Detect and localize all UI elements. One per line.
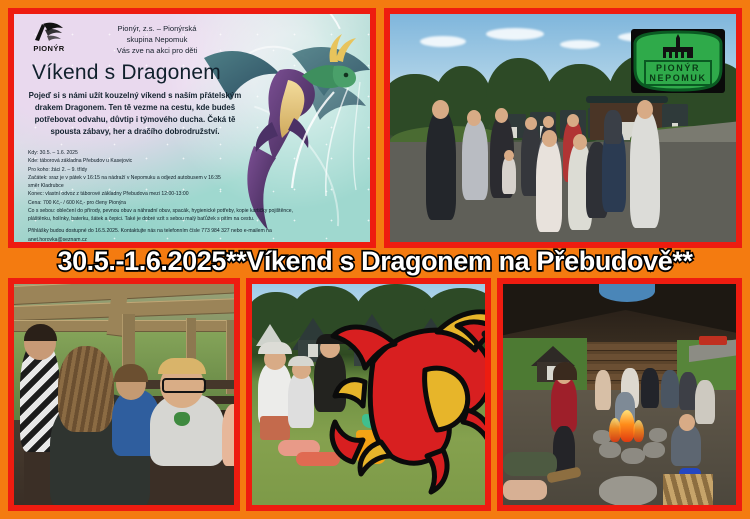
- pionyr-nepomuk-sign: PIONÝR NEPOMUK: [630, 28, 726, 94]
- detail-line: Cena: 700 Kč,- / 600 Kč,- pro členy Pion…: [28, 199, 358, 207]
- shelter-photo: [14, 284, 234, 505]
- person-seated: [595, 370, 611, 410]
- person-head: [637, 100, 653, 119]
- glasses-icon: [162, 378, 206, 393]
- lodge-roof: [586, 96, 668, 103]
- cloud: [486, 28, 544, 40]
- group-photo: PIONÝR NEPOMUK: [390, 14, 736, 242]
- sign-line-1: PIONÝR: [656, 62, 700, 73]
- shorts: [260, 416, 290, 440]
- wall-plank: [587, 344, 677, 351]
- event-poster: PIONÝR Pionýr, z.s. – Pionýrská skupina …: [14, 14, 370, 242]
- person-head: [573, 134, 587, 150]
- sun-hat: [288, 356, 314, 366]
- person-legs: [503, 480, 547, 500]
- hair: [553, 362, 577, 380]
- sun-hat: [258, 342, 292, 354]
- detail-line: Začátek: sraz je v pátek v 16:15 na nádr…: [28, 174, 358, 182]
- detail-line: Pro koho: žáci 2. – 9. třídy: [28, 166, 358, 174]
- camp-photo-panel: [246, 278, 491, 511]
- wall-plank: [587, 354, 677, 361]
- person-head: [495, 108, 508, 123]
- person-head: [679, 414, 695, 431]
- detail-line: směr Kladrubce: [28, 182, 358, 190]
- campfire-photo-panel: [497, 278, 742, 511]
- firewood-stack: [663, 474, 713, 505]
- group-photo-inner: PIONÝR NEPOMUK: [390, 14, 736, 242]
- caption-banner: 30.5.-1.6.2025**Víkend s Dragonem na Pře…: [0, 243, 750, 279]
- poster-title: Víkend s Dragonem: [32, 61, 221, 85]
- person-head: [467, 110, 481, 126]
- poster-details: Kdy: 30.5. – 1.6. 2025 Kde: táborová zák…: [28, 149, 358, 242]
- campfire-photo: [503, 284, 736, 505]
- caption-text: 30.5.-1.6.2025**Víkend s Dragonem na Pře…: [57, 246, 692, 277]
- fire-ring-stone: [643, 442, 665, 458]
- cloud: [560, 40, 600, 49]
- campfire-photo-inner: [503, 284, 736, 505]
- detail-line: Co s sebou: oblečení do přírody, pevnou …: [28, 207, 358, 215]
- detail-line: pláštěnku, holínky, baterku, šátek a čep…: [28, 215, 358, 223]
- person-arm: [222, 404, 234, 466]
- shirt-print: [174, 412, 190, 426]
- detail-line: Konec: vlastní odvoz z táborové základny…: [28, 190, 358, 198]
- photo-collage: PIONÝR Pionýr, z.s. – Pionýrská skupina …: [0, 0, 750, 519]
- shelter-photo-panel: [8, 278, 240, 511]
- large-rock: [599, 476, 657, 505]
- detail-line: Přihlášky budou dostupné do 16.5.2025. K…: [28, 227, 358, 235]
- group-photo-panel: PIONÝR NEPOMUK: [384, 8, 742, 248]
- camp-photo: [252, 284, 485, 505]
- person: [604, 110, 622, 144]
- detail-line: anet.horovka@seznam.cz: [28, 236, 358, 243]
- campfire-flame: [633, 420, 644, 442]
- person-seated: [695, 380, 715, 424]
- person-head: [504, 150, 514, 161]
- person-seated: [641, 368, 659, 408]
- child: [502, 156, 516, 194]
- person-seated: [661, 370, 679, 408]
- sign-line-2: NEPOMUK: [649, 73, 706, 83]
- poster-inner: PIONÝR Pionýr, z.s. – Pionýrská skupina …: [14, 14, 370, 242]
- cloud: [420, 36, 466, 47]
- leader-red-shirt: [551, 376, 577, 432]
- fire-ring-stone: [649, 428, 667, 442]
- person: [426, 110, 456, 220]
- braided-hair: [58, 346, 114, 432]
- person-head: [543, 116, 554, 128]
- person-head: [542, 130, 557, 147]
- poster-intro-text: Pojeď si s námi užít kouzelný víkend s n…: [28, 90, 242, 137]
- detail-line: Kde: táborová základna Přebudov u Kasejo…: [28, 157, 358, 165]
- person: [630, 110, 660, 228]
- red-car: [699, 336, 727, 345]
- red-dragon-emblem: [317, 290, 485, 505]
- person-head: [432, 100, 449, 119]
- fire-ring-stone: [621, 448, 645, 464]
- person-head: [525, 117, 537, 130]
- person: [462, 118, 488, 200]
- shelter-photo-inner: [14, 284, 234, 505]
- pionyr-logo: PIONÝR: [26, 21, 72, 53]
- fire-ring-stone: [599, 442, 621, 458]
- camp-photo-inner: [252, 284, 485, 505]
- detail-line: Kdy: 30.5. – 1.6. 2025: [28, 149, 358, 157]
- child: [288, 372, 314, 428]
- poster-panel: PIONÝR Pionýr, z.s. – Pionýrská skupina …: [8, 8, 376, 248]
- person: [536, 138, 562, 232]
- hair: [158, 358, 206, 374]
- pionyr-wordmark: PIONÝR: [26, 44, 72, 53]
- person-head: [567, 114, 579, 127]
- campfire-flame: [609, 418, 621, 442]
- pionyr-flame-icon: [32, 21, 66, 43]
